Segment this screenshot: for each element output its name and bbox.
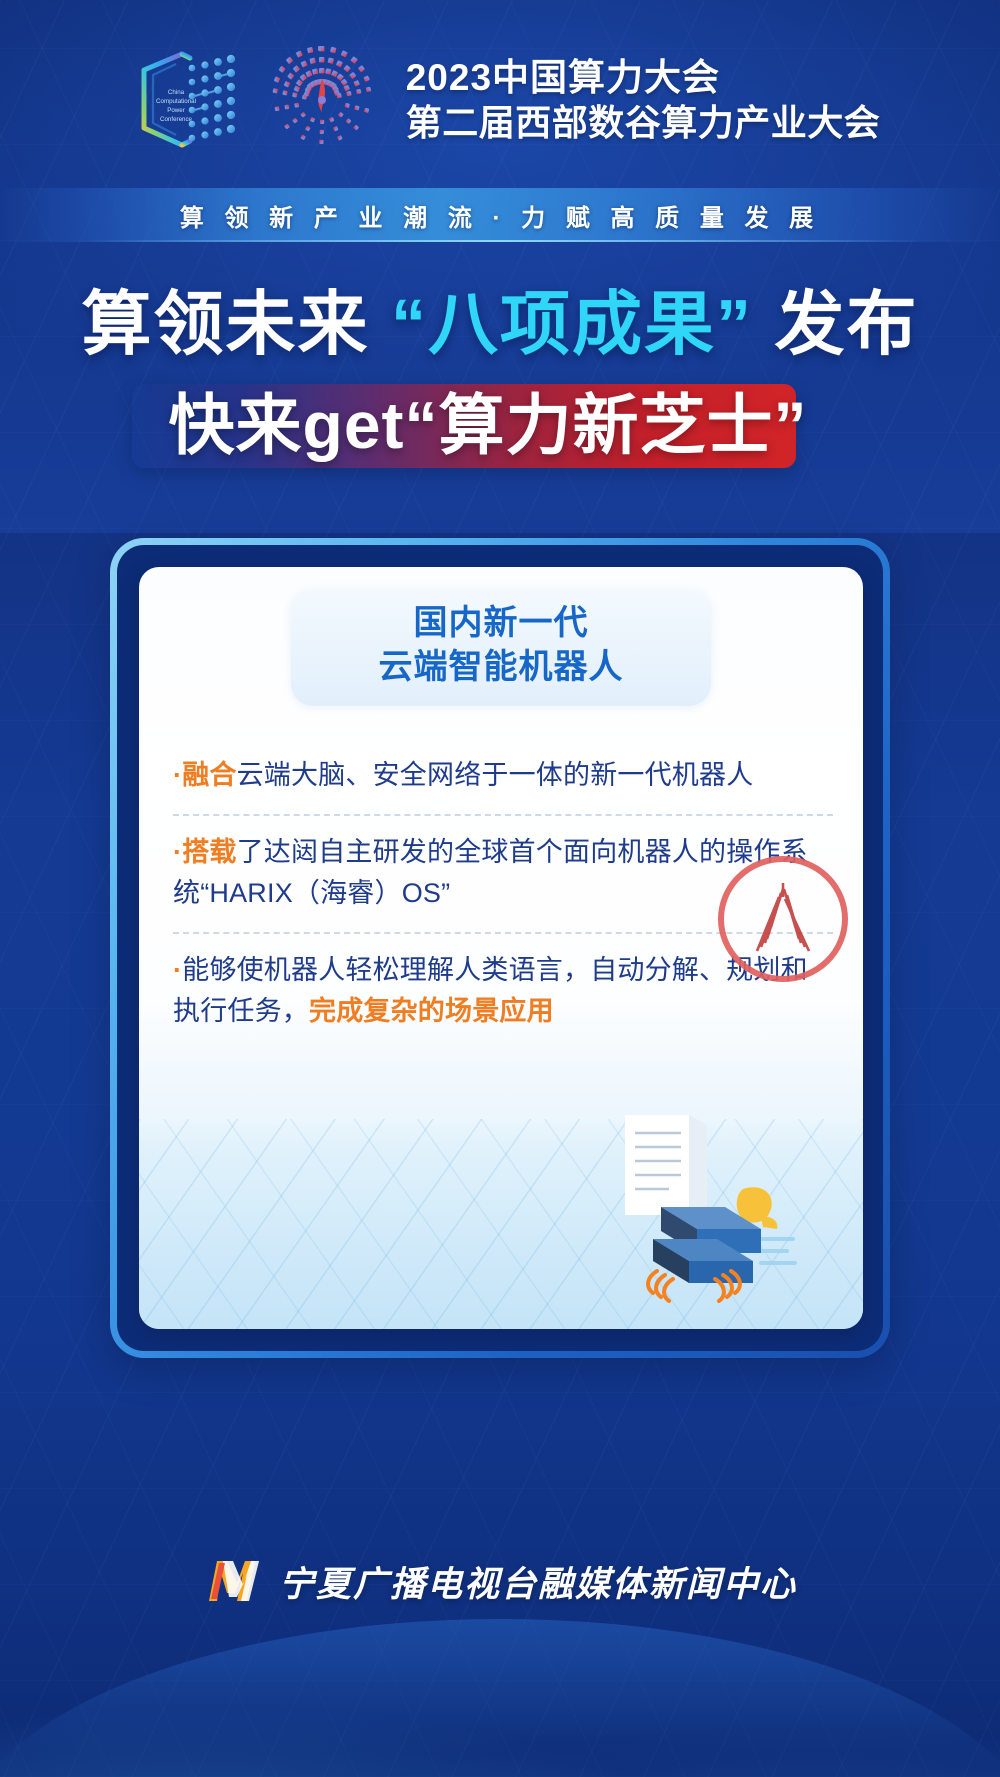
conference-title-line1: 2023中国算力大会: [406, 57, 881, 98]
main-title-line1: 算领未来 “八项成果” 发布: [0, 288, 1000, 362]
poster-footer: 宁夏广播电视台融媒体新闻中心: [0, 1477, 1000, 1777]
bullet-dot-2: ·: [173, 837, 182, 867]
svg-text:China: China: [168, 89, 185, 96]
conference-title-line2: 第二届西部数谷算力产业大会: [406, 103, 881, 143]
poster-root: China Computational Power Conference: [0, 0, 1000, 1777]
bullet-dot-1: ·: [173, 760, 182, 790]
poster-header: China Computational Power Conference: [0, 0, 1000, 192]
card-bullet-list: ·融合云端大脑、安全网络于一体的新一代机器人 ·搭载了达闼自主研发的全球首个面向…: [173, 739, 833, 1050]
isometric-document-illustration: [565, 1111, 805, 1311]
main-title-part3: 发布: [753, 285, 918, 363]
svg-text:Power: Power: [167, 107, 185, 114]
main-title-part2-highlight: “八项成果”: [391, 285, 753, 363]
main-title-part1: 算领未来: [82, 285, 391, 363]
main-title-line2: 快来get“算力新芝士”: [169, 392, 832, 458]
slogan-text: 算 领 新 产 业 潮 流 · 力 赋 高 质 量 发 展: [180, 198, 820, 233]
main-title-line2-wrap: 快来get“算力新芝士”: [0, 380, 1000, 470]
result-card-frame: 国内新一代 云端智能机器人 ·融合云端大脑、安全网络于一体的新一代机器人 ·搭载…: [110, 538, 890, 1358]
card-bullet-3: ·能够使机器人轻松理解人类语言，自动分解、规划和执行任务，完成复杂的场景应用: [173, 934, 833, 1050]
card-bullet-2: ·搭载了达闼自主研发的全球首个面向机器人的操作系统“HARIX（海睿）OS”: [173, 816, 833, 932]
ningxia-tv-logo-icon: [203, 1553, 265, 1609]
card-title-line2: 云端智能机器人: [291, 645, 711, 690]
result-card: 国内新一代 云端智能机器人 ·融合云端大脑、安全网络于一体的新一代机器人 ·搭载…: [139, 567, 863, 1329]
svg-text:Computational: Computational: [156, 98, 196, 105]
main-title: 算领未来 “八项成果” 发布 快来get“算力新芝士”: [0, 288, 1000, 470]
card-bullet-1: ·融合云端大脑、安全网络于一体的新一代机器人: [173, 739, 833, 814]
bullet-highlight-1: 融合: [182, 760, 236, 790]
bullet-dot-3: ·: [173, 955, 182, 985]
bullet-highlight-2: 搭载: [182, 837, 236, 867]
svg-text:Conference: Conference: [160, 116, 193, 123]
bullet-text-2: 了达闼自主研发的全球首个面向机器人的操作系统“HARIX（海睿）OS”: [173, 837, 808, 908]
conference-title: 2023中国算力大会 第二届西部数谷算力产业大会: [406, 57, 881, 143]
bullet-text-1: 云端大脑、安全网络于一体的新一代机器人: [237, 760, 754, 790]
footer-text: 宁夏广播电视台融媒体新闻中心: [279, 1556, 797, 1607]
ccpc-logo-icon: China Computational Power Conference: [120, 44, 248, 156]
card-title-line1: 国内新一代: [291, 601, 711, 646]
slogan-bar: 算 领 新 产 业 潮 流 · 力 赋 高 质 量 发 展: [0, 186, 1000, 244]
card-title-pill: 国内新一代 云端智能机器人: [291, 589, 711, 707]
xibu-shugu-logo-icon: [264, 42, 380, 158]
bullet-tail-highlight-3: 完成复杂的场景应用: [309, 996, 554, 1026]
footer-content: 宁夏广播电视台融媒体新闻中心: [0, 1553, 1000, 1609]
